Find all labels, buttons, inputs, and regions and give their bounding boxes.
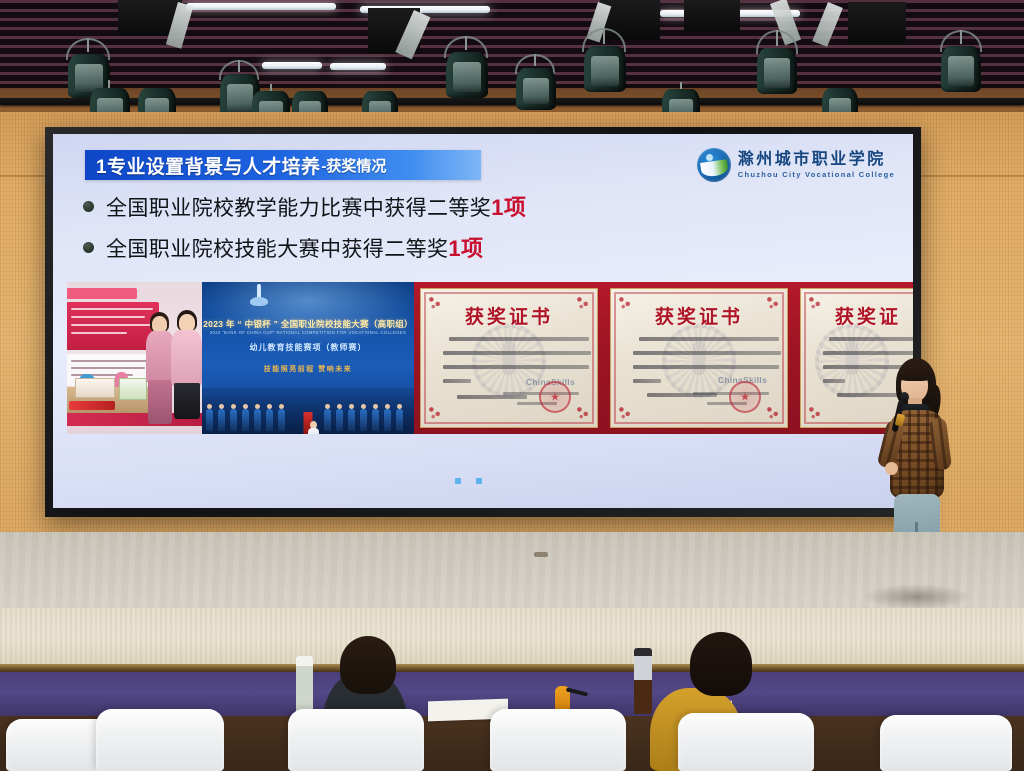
- certificate-title: 获奖证: [835, 302, 913, 329]
- slide-page-dots: [455, 478, 482, 484]
- presenter-fringe: [898, 366, 932, 381]
- audience-chair-5: [678, 713, 814, 771]
- competition-banner-title: 2023 年 “ 中银杯 ” 全国职业院校技能大赛（高职组）: [202, 318, 414, 330]
- certificate-watermark: [662, 324, 736, 398]
- presenter-shadow: [862, 584, 972, 610]
- certificate-2: 获奖证书 ChinaSkills: [604, 282, 794, 434]
- competition-slogan: 技能照亮前程 赞响未来: [202, 364, 414, 374]
- institution-logo-text: 滁州城市职业学院 Chuzhou City Vocational College: [738, 151, 895, 179]
- audience-wall-band: [0, 608, 1024, 666]
- college-emblem-icon: [697, 148, 731, 182]
- slide-image-strip: 2023 年 “ 中银杯 ” 全国职业院校技能大赛（高职组） 2023 “BAN…: [67, 282, 895, 434]
- slide-dot: [455, 478, 461, 484]
- stage-spotlight-7: [936, 30, 986, 90]
- competition-emblem-icon: [248, 284, 270, 308]
- ceiling-fluorescent-tube-4: [262, 62, 322, 69]
- audience-chair-6: [880, 715, 1012, 771]
- presenter-hand: [885, 462, 898, 475]
- floor-marking: [534, 552, 548, 557]
- stage-spotlight-4: [512, 54, 560, 110]
- institution-name-cn: 滁州城市职业学院: [738, 151, 895, 169]
- audience-person-1-head: [340, 636, 396, 694]
- bullet-highlight: 1项: [491, 195, 526, 220]
- certificate-1: 获奖证书 ChinaSkills: [414, 282, 604, 434]
- slide-bullet-list: 全国职业院校教学能力比赛中获得二等奖1项 全国职业院校技能大赛中获得二等奖1项: [83, 190, 743, 272]
- water-bottle-1: [634, 648, 652, 714]
- ceiling-speaker-box-4: [684, 0, 740, 32]
- bullet-highlight: 1项: [448, 236, 483, 261]
- teaching-demo-photo: [67, 282, 202, 434]
- audience-chair-4: [490, 709, 626, 771]
- competition-event-name: 幼儿教育技能赛项（教师赛）: [202, 342, 414, 353]
- bullet-item: 全国职业院校技能大赛中获得二等奖1项: [83, 231, 743, 263]
- skills-competition-photo: 2023 年 “ 中银杯 ” 全国职业院校技能大赛（高职组） 2023 “BAN…: [202, 282, 414, 434]
- ceiling-fluorescent-tube-5: [330, 63, 386, 70]
- institution-name-en: Chuzhou City Vocational College: [738, 170, 895, 179]
- slide-title-main: 1专业设置背景与人才培养: [96, 152, 320, 179]
- bullet-dot-icon: [83, 242, 94, 253]
- stage-spotlight-6: [752, 30, 802, 92]
- slide-dot: [476, 478, 482, 484]
- certificate-seal: [729, 381, 761, 413]
- lecture-hall-scene: 1专业设置背景与人才培养 -获奖情况 滁州城市职业学院 Chuzhou City…: [0, 0, 1024, 771]
- institution-logo: 滁州城市职业学院 Chuzhou City Vocational College: [697, 148, 895, 182]
- bullet-text: 全国职业院校教学能力比赛中获得二等奖1项: [106, 190, 526, 222]
- audience-person-2-head: [690, 632, 752, 696]
- certificate-title: 获奖证书: [421, 302, 597, 329]
- stage-spotlight-5: [578, 28, 630, 90]
- bullet-item: 全国职业院校教学能力比赛中获得二等奖1项: [83, 190, 743, 222]
- ceiling-speaker-box-5: [848, 2, 906, 44]
- slide-title-bar: 1专业设置背景与人才培养 -获奖情况: [85, 150, 481, 180]
- presenter-photo-person-b: [171, 310, 202, 434]
- ceiling-fluorescent-tube-1: [186, 3, 336, 10]
- certificate-seal: [539, 381, 571, 413]
- certificate-title: 获奖证书: [611, 302, 787, 329]
- presentation-slide[interactable]: 1专业设置背景与人才培养 -获奖情况 滁州城市职业学院 Chuzhou City…: [53, 134, 913, 508]
- competition-banner-title-en: 2023 “BANK OF CHINA CUP” NATIONAL COMPET…: [202, 330, 414, 335]
- bullet-dot-icon: [83, 201, 94, 212]
- thermos-bottle-1: [296, 656, 313, 714]
- audience-chair-2: [96, 709, 224, 771]
- audience-chair-3: [288, 709, 424, 771]
- projection-screen-frame: 1专业设置背景与人才培养 -获奖情况 滁州城市职业学院 Chuzhou City…: [45, 127, 921, 517]
- bullet-text: 全国职业院校技能大赛中获得二等奖1项: [106, 231, 483, 263]
- stage-spotlight-3: [440, 36, 492, 96]
- slide-title-sub: -获奖情况: [321, 155, 386, 176]
